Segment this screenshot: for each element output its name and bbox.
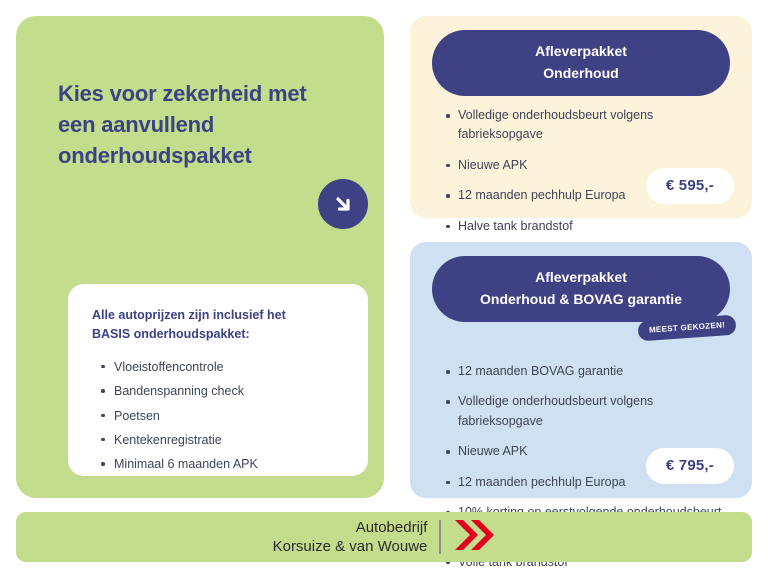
list-item: Volledige onderhoudsbeurt volgens fabrie… xyxy=(458,392,734,431)
list-item: Halve tank brandstof xyxy=(458,217,734,236)
package-header-onderhoud: Afleverpakket Onderhoud xyxy=(432,30,730,96)
list-item: Kentekenregistratie xyxy=(114,428,344,452)
basis-package-list: Vloeistoffencontrole Bandenspanning chec… xyxy=(92,355,344,477)
list-item: Vloeistoffencontrole xyxy=(114,355,344,379)
price-badge-onderhoud: € 595,- xyxy=(646,168,734,204)
footer-logo-group: Autobedrijf Korsuize & van Wouwe xyxy=(16,512,752,562)
page-title: Kies voor zekerheid met een aanvullend o… xyxy=(58,78,348,172)
footer-bar: Autobedrijf Korsuize & van Wouwe xyxy=(16,512,752,562)
price-badge-onderhoud-bovag: € 795,- xyxy=(646,448,734,484)
basis-package-card: Alle autoprijzen zijn inclusief het BASI… xyxy=(68,284,368,476)
list-item: 12 maanden BOVAG garantie xyxy=(458,362,734,381)
package-card-onderhoud-bovag[interactable]: Afleverpakket Onderhoud & BOVAG garantie… xyxy=(410,242,752,498)
list-item: Minimaal 6 maanden APK xyxy=(114,452,344,476)
list-item: Bandenspanning check xyxy=(114,379,344,403)
list-item: Poetsen xyxy=(114,404,344,428)
promo-panel: Kies voor zekerheid met een aanvullend o… xyxy=(16,16,384,498)
basis-package-title: Alle autoprijzen zijn inclusief het BASI… xyxy=(92,306,344,345)
footer-divider xyxy=(439,520,441,554)
company-name: Autobedrijf Korsuize & van Wouwe xyxy=(273,518,440,556)
double-chevron-right-icon xyxy=(453,518,495,557)
package-header-onderhoud-bovag: Afleverpakket Onderhoud & BOVAG garantie xyxy=(432,256,730,322)
arrow-down-right-icon[interactable] xyxy=(318,179,368,229)
list-item: Volledige onderhoudsbeurt volgens fabrie… xyxy=(458,106,734,145)
package-card-onderhoud[interactable]: Afleverpakket Onderhoud Volledige onderh… xyxy=(410,16,752,218)
